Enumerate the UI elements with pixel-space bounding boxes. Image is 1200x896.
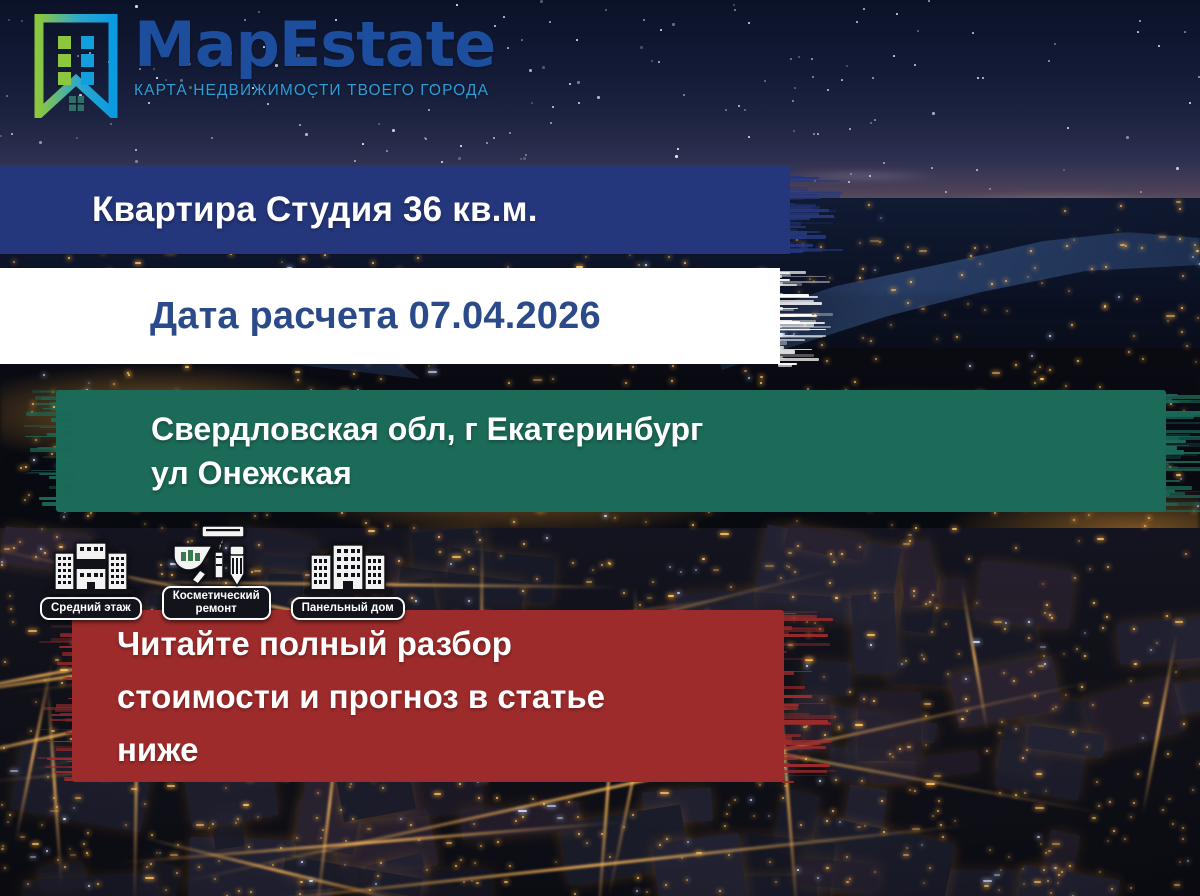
badge-label-line-2: ремонт (196, 603, 237, 615)
title-banner: Квартира Студия 36 кв.м. (0, 166, 790, 254)
address-line-1: Свердловская обл, г Екатеринбург (151, 407, 703, 451)
brand-name: MapEstate (134, 14, 495, 76)
poster-canvas: MapEstate КАРТА НЕДВИЖИМОСТИ ТВОЕГО ГОРО… (0, 0, 1200, 896)
cta-line-3: ниже (117, 723, 605, 776)
badge-srednij-etazh[interactable]: Средний этаж (40, 539, 142, 620)
cta-banner-text: Читайте полный разбор стоимости и прогно… (117, 617, 605, 776)
panel-house-icon (302, 539, 394, 601)
badge-label: Косметический ремонт (162, 586, 271, 620)
cta-banner: Читайте полный разбор стоимости и прогно… (72, 610, 784, 782)
feature-badges: Средний этаж (40, 524, 405, 620)
header: MapEstate КАРТА НЕДВИЖИМОСТИ ТВОЕГО ГОРО… (0, 0, 1200, 150)
title-banner-text: Квартира Студия 36 кв.м. (92, 190, 538, 230)
badge-label-line-1: Косметический (173, 590, 260, 602)
brand-text: MapEstate КАРТА НЕДВИЖИМОСТИ ТВОЕГО ГОРО… (134, 14, 495, 100)
address-banner: Свердловская обл, г Екатеринбург ул Онеж… (56, 390, 1166, 512)
address-line-2: ул Онежская (151, 451, 703, 495)
paint-roller-brush-icon (166, 524, 266, 590)
bookmark-building-icon (34, 14, 118, 118)
apartment-building-icon (45, 539, 137, 601)
date-banner-text: Дата расчета 07.04.2026 (150, 295, 601, 338)
cta-line-2: стоимости и прогноз в статье (117, 670, 605, 723)
brand-tagline: КАРТА НЕДВИЖИМОСТИ ТВОЕГО ГОРОДА (134, 82, 495, 100)
badge-panelnyj-dom[interactable]: Панельный дом (291, 539, 405, 620)
address-banner-text: Свердловская обл, г Екатеринбург ул Онеж… (151, 407, 703, 495)
date-banner: Дата расчета 07.04.2026 (0, 268, 780, 364)
cta-line-1: Читайте полный разбор (117, 617, 605, 670)
badge-kosmeticheskij-remont[interactable]: Косметический ремонт (162, 524, 271, 620)
brand-logo[interactable]: MapEstate КАРТА НЕДВИЖИМОСТИ ТВОЕГО ГОРО… (34, 14, 495, 118)
